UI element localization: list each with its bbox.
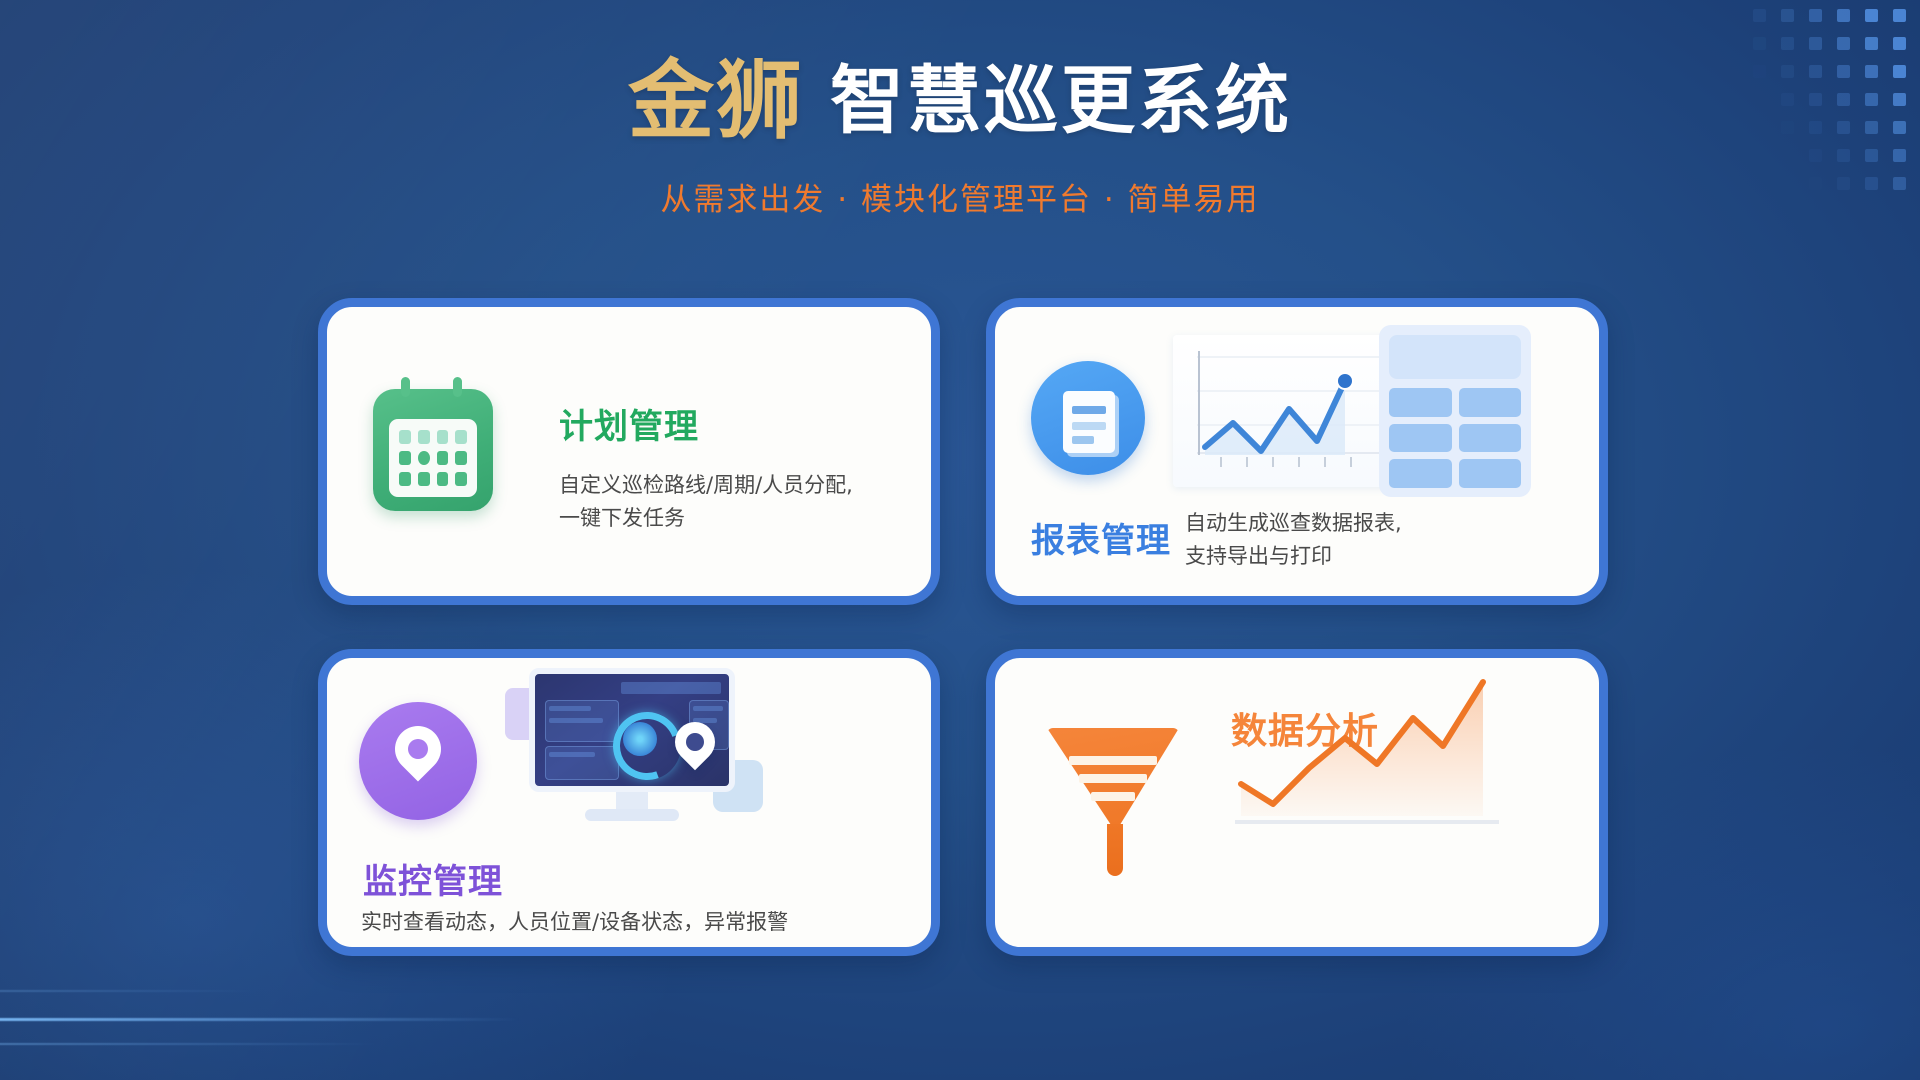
feature-card-plan-management[interactable]: 计划管理 自定义巡检路线/周期/人员分配, 一键下发任务 <box>318 298 940 605</box>
card-description-plan-management: 自定义巡检路线/周期/人员分配, 一键下发任务 <box>559 469 889 534</box>
decor-dot <box>1753 9 1766 22</box>
card-description-report-management: 自动生成巡查数据报表, 支持导出与打印 <box>1185 507 1515 572</box>
page-title: 智慧巡更系统 <box>830 64 1292 138</box>
analysis-trend-chart-svg <box>1231 676 1503 832</box>
report-side-panel <box>1379 325 1531 497</box>
decor-light-streak <box>0 990 260 992</box>
calendar-icon <box>373 389 493 511</box>
document-report-icon <box>1063 391 1115 453</box>
feature-card-report-management[interactable]: 报表管理 自动生成巡查数据报表, 支持导出与打印 <box>986 298 1608 605</box>
decor-dot <box>1865 37 1878 50</box>
feature-card-data-analysis[interactable]: 数据分析 <box>986 649 1608 956</box>
card-title-plan-management: 计划管理 <box>559 399 699 448</box>
card-description-line: 实时查看动态，人员位置/设备状态，异常报警 <box>361 906 921 939</box>
feature-card-monitor-management[interactable]: 监控管理 实时查看动态，人员位置/设备状态，异常报警 <box>318 649 940 956</box>
report-trend-chart-svg <box>1173 335 1389 487</box>
monitor-illustration <box>513 668 751 840</box>
page-header: 金狮 智慧巡更系统 从需求出发 · 模块化管理平台 · 简单易用 <box>0 58 1920 219</box>
decor-dot <box>1865 9 1878 22</box>
card-description-line: 自定义巡检路线/周期/人员分配, <box>559 469 889 502</box>
report-illustration <box>1173 319 1533 501</box>
poster-canvas: 金狮 智慧巡更系统 从需求出发 · 模块化管理平台 · 简单易用 计划管理 自定 <box>0 0 1920 1080</box>
decor-dot <box>1837 37 1850 50</box>
decor-dot <box>1809 37 1822 50</box>
funnel-icon <box>1047 728 1179 840</box>
decor-dot <box>1781 9 1794 22</box>
decor-dot <box>1809 9 1822 22</box>
feature-card-grid: 计划管理 自定义巡检路线/周期/人员分配, 一键下发任务 <box>318 298 1608 956</box>
report-trend-chart <box>1173 335 1389 487</box>
decor-dot <box>1893 9 1906 22</box>
card-title-report-management: 报表管理 <box>1031 513 1171 562</box>
card-title-monitor-management: 监控管理 <box>363 854 503 903</box>
decor-dot <box>1753 37 1766 50</box>
card-description-line: 支持导出与打印 <box>1185 540 1515 573</box>
brand-logo-text: 金狮 <box>628 58 804 144</box>
decor-light-streak <box>0 1018 520 1021</box>
decor-light-streak <box>0 1043 380 1045</box>
card-description-line: 自动生成巡查数据报表, <box>1185 507 1515 540</box>
decor-dot <box>1893 37 1906 50</box>
card-description-monitor-management: 实时查看动态，人员位置/设备状态，异常报警 <box>361 906 921 939</box>
card-description-line: 一键下发任务 <box>559 502 889 535</box>
decor-dot <box>1781 37 1794 50</box>
page-subtitle: 从需求出发 · 模块化管理平台 · 简单易用 <box>0 174 1920 219</box>
analysis-trend-chart <box>1231 676 1503 832</box>
title-row: 金狮 智慧巡更系统 <box>0 58 1920 144</box>
decor-dot <box>1837 9 1850 22</box>
